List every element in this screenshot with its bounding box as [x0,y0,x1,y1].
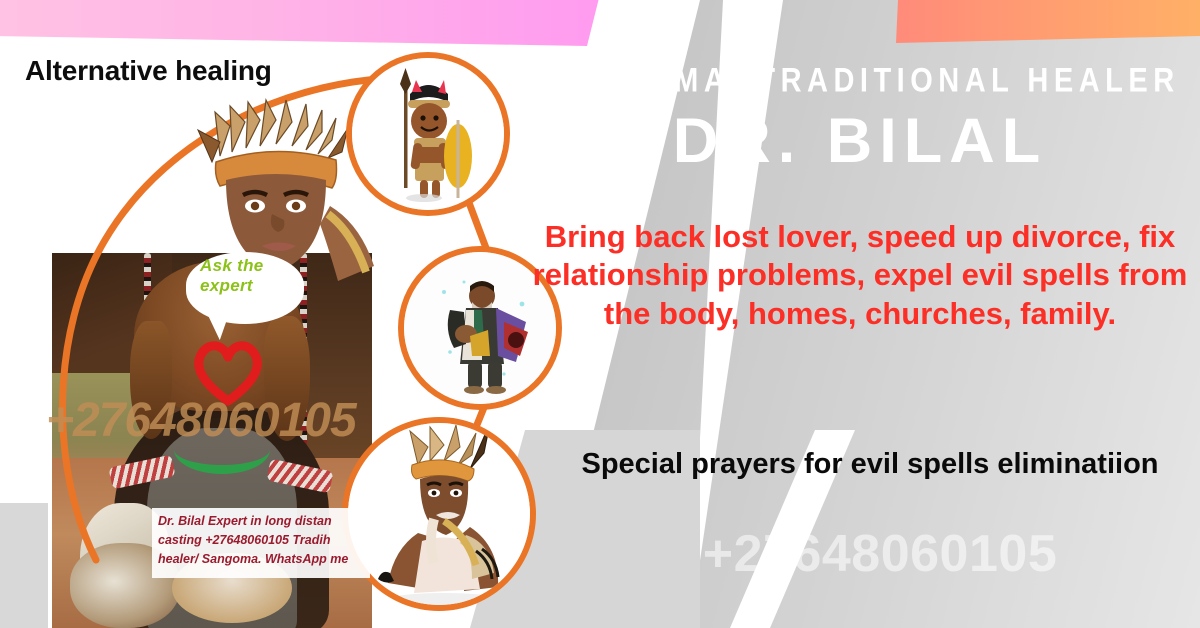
hero-pupil-left [251,202,259,210]
caption-line-1: Dr. Bilal Expert in long distan [158,512,373,531]
badge-3-art [348,423,530,605]
warrior-face-icon [411,103,447,139]
services-red-paragraph: Bring back lost lover, speed up divorce,… [530,218,1190,333]
caption-line-3: healer/ Sangoma. WhatsApp me [158,550,373,569]
header-kicker: SANGOMA/ TRADITIONAL HEALER [540,62,1180,101]
caption-line-2: casting +27648060105 Tradih [158,531,373,550]
badge-1-art [352,58,504,210]
speech-bubble-text: Ask the expert [200,256,304,296]
badge-zulu-warrior-cartoon[interactable] [352,58,504,210]
badge-crouching-warrior[interactable] [348,423,530,605]
heart-icon [190,337,266,407]
background-gray-left-strip [0,503,48,628]
photo-caption-text: Dr. Bilal Expert in long distan casting … [158,512,373,569]
poster-canvas: +27648060105 Ask the expert Dr. Bilal Ex… [0,0,1200,628]
header-name: DR. BILAL [540,110,1180,173]
page-title: Alternative healing [25,55,272,87]
speech-bubble-tail [204,305,235,342]
services-black-paragraph: Special prayers for evil spells eliminat… [560,446,1180,483]
contact-phone-ghost: +27648060105 [560,524,1200,584]
hero-pupil-right [292,202,300,210]
